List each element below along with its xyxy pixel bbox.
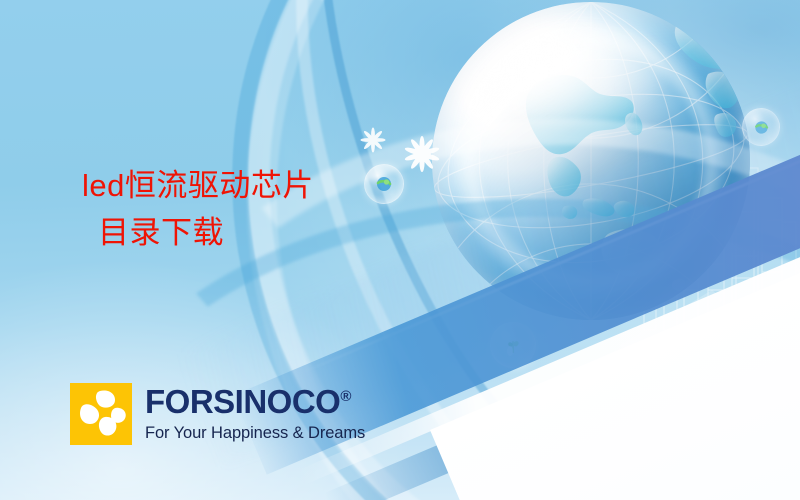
logo-wordmark-text: FORSINOCO	[145, 383, 340, 420]
bubble-small	[742, 108, 780, 146]
brand-logo: FORSINOCO® For Your Happiness & Dreams	[70, 383, 365, 445]
logo-petal-mark-icon	[70, 383, 132, 445]
headline-line-1: led恒流驱动芯片	[82, 168, 314, 203]
globe-illustration	[432, 2, 750, 320]
corner-white-fill	[430, 227, 800, 500]
page-title: led恒流驱动芯片目录下载	[82, 162, 442, 256]
headline-line-2: 目录下载	[82, 209, 442, 256]
bubble-with-plant	[490, 322, 536, 368]
globe-halo	[418, 0, 764, 334]
promo-banner: led恒流驱动芯片目录下载 FORSINOCO® For Your Happin…	[0, 0, 800, 500]
globe-shading	[432, 2, 750, 320]
logo-tagline: For Your Happiness & Dreams	[145, 425, 365, 442]
globe-rim-light	[432, 2, 750, 320]
logo-wordmark: FORSINOCO®	[145, 385, 365, 418]
city-skyline-silhouette	[620, 150, 800, 350]
globe-gloss-highlight	[470, 18, 667, 126]
registered-trademark-icon: ®	[340, 388, 351, 405]
sparkle-starburst-2	[358, 125, 388, 160]
